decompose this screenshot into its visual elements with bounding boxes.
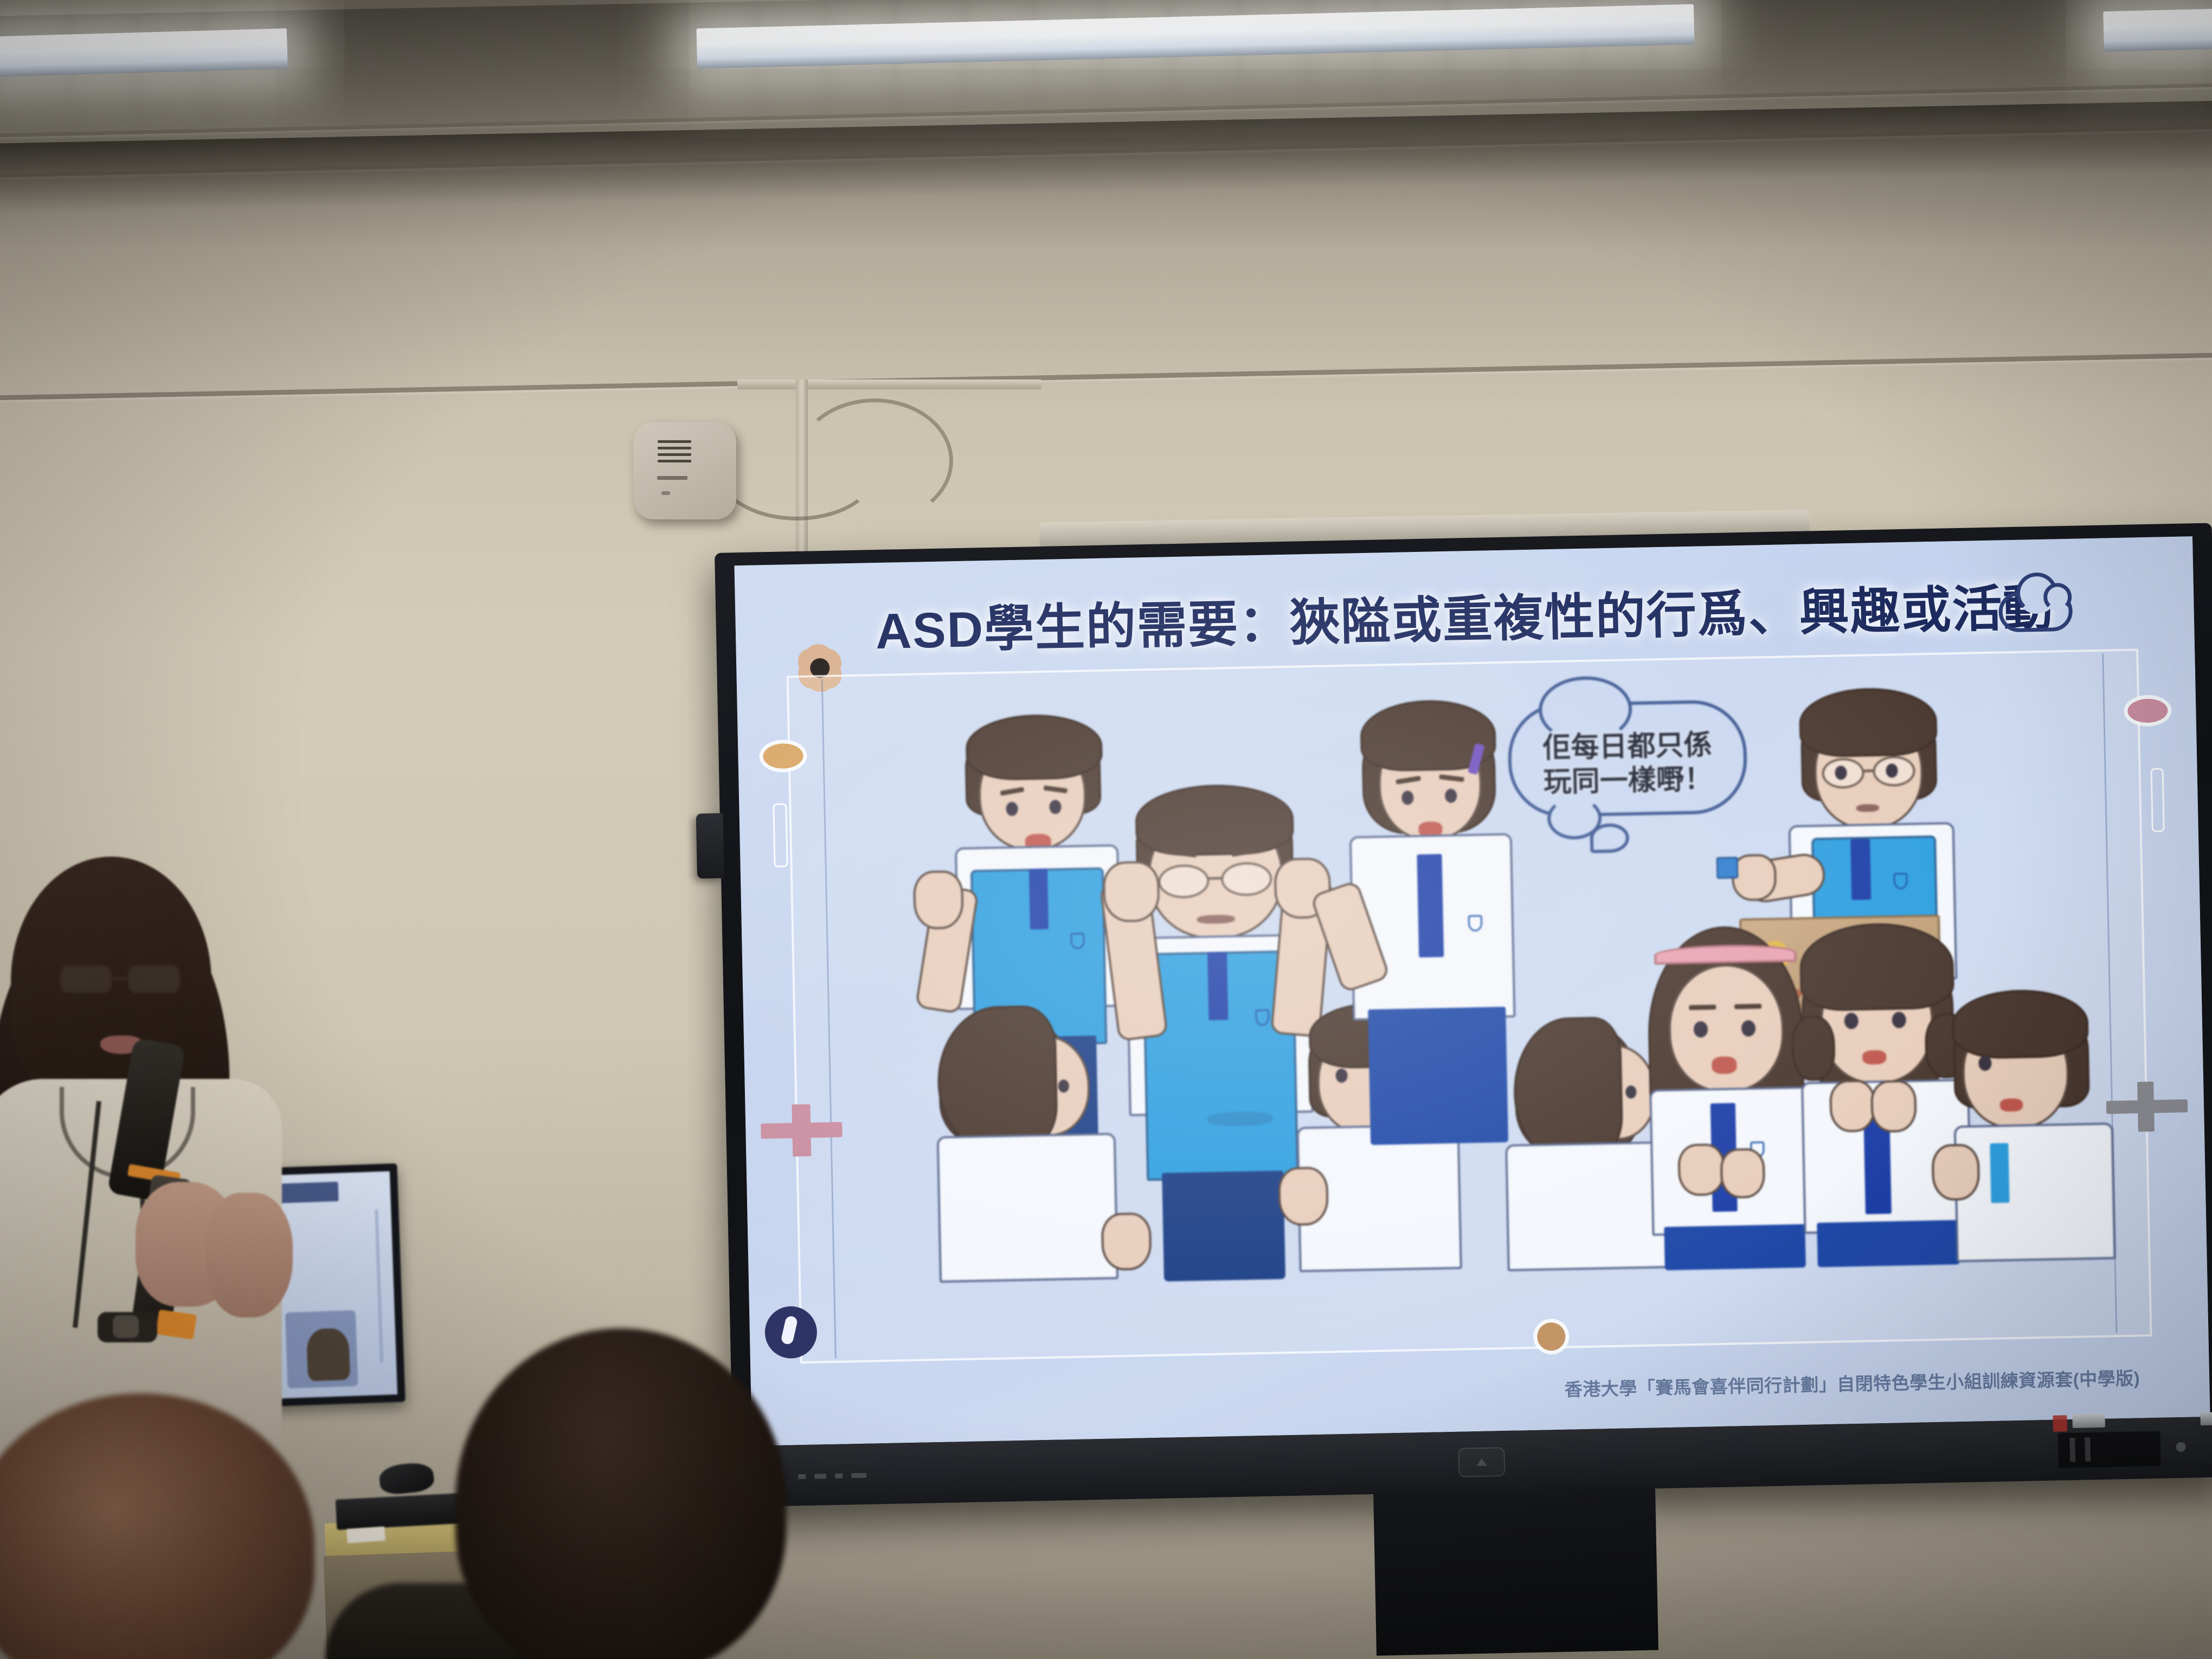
cloud-icon — [1998, 591, 2073, 633]
status-indicator — [2053, 1415, 2067, 1432]
student-hair-front — [965, 713, 1103, 781]
power-logo-icon[interactable] — [1458, 1447, 1505, 1477]
port-icon[interactable] — [851, 1473, 866, 1478]
pink-dot-icon — [2127, 698, 2168, 723]
paper-sheet — [346, 1527, 385, 1544]
student-hair-back — [1513, 1017, 1624, 1164]
student-hand-covering-ear — [1103, 861, 1160, 923]
panel-control-module[interactable] — [2057, 1431, 2161, 1469]
illustration-right: 佢每日都只係 玩同一樣嘢！ — [1496, 674, 2114, 1271]
vent-slots — [658, 440, 691, 443]
headband-icon — [1654, 943, 1797, 964]
cable-conduit — [737, 380, 1041, 389]
student-hand — [1677, 1143, 1725, 1197]
student-shirt — [1954, 1122, 2116, 1262]
pink-plus-vertical — [792, 1104, 811, 1157]
student-brow — [1689, 1005, 1716, 1010]
cable-loop — [796, 398, 953, 523]
student-tie — [1990, 1143, 2009, 1203]
interactive-flat-panel[interactable]: ASD學生的需要：狹隘或重複性的行爲、興趣或活動 — [715, 523, 2212, 1507]
speech-bubble: 佢每日都只係 玩同一樣嘢！ — [1507, 699, 1748, 818]
puzzle-piece-icon — [1716, 857, 1739, 879]
student-hair-back — [936, 1005, 1058, 1154]
white-bar-icon — [773, 803, 788, 867]
classroom-scene: ASD學生的需要：狹隘或重複性的行爲、興趣或活動 — [0, 0, 2212, 1659]
student-tie — [1850, 839, 1871, 900]
student-skirt — [1817, 1220, 1960, 1267]
ceiling-light — [2103, 8, 2212, 52]
student-hair-front — [1951, 988, 2089, 1059]
student-hand — [1278, 1167, 1329, 1226]
student-mouth — [2000, 1098, 2023, 1112]
device-indicator — [661, 491, 670, 495]
student-hand — [1732, 854, 1777, 902]
wifi-access-point-icon — [633, 422, 736, 519]
glasses-bridge — [1863, 769, 1875, 772]
student-hand — [1720, 1148, 1765, 1199]
student-hand — [1101, 1212, 1152, 1271]
panel-screen[interactable]: ASD學生的需要：狹隘或重複性的行爲、興趣或活動 — [734, 536, 2210, 1446]
power-button[interactable] — [2176, 1442, 2185, 1452]
student-hand — [913, 870, 964, 930]
glasses-bridge — [1208, 877, 1223, 880]
control-slot[interactable] — [2085, 1437, 2091, 1461]
port-icon[interactable] — [835, 1474, 843, 1478]
student-shirt — [937, 1133, 1118, 1283]
gray-plus-icon — [2106, 1099, 2188, 1114]
illustration-left — [900, 698, 1470, 1278]
gray-plus-vertical — [2137, 1082, 2155, 1132]
wristwatch-face — [113, 1315, 139, 1338]
lens-right — [128, 965, 180, 993]
device-label — [657, 476, 687, 480]
student-hair-front — [1135, 783, 1295, 857]
student-tie — [1029, 869, 1049, 930]
control-slot[interactable] — [2069, 1438, 2075, 1462]
student-hand — [1870, 1080, 1917, 1133]
port-icon[interactable] — [814, 1474, 826, 1478]
student-skirt — [1368, 1007, 1508, 1145]
lens-left — [60, 965, 112, 993]
glasses-bridge — [112, 977, 128, 980]
panel-side-handle[interactable] — [696, 813, 724, 879]
student-brow — [1886, 996, 1913, 1002]
panel-stand — [1373, 1488, 1658, 1656]
glasses-icon — [60, 965, 180, 994]
port-icon[interactable] — [798, 1474, 806, 1479]
student-mouth — [1197, 915, 1235, 924]
student-pigtail — [1791, 1015, 1836, 1082]
laptop-poster-line — [375, 1210, 383, 1362]
pink-plus-icon — [761, 1122, 843, 1139]
speech-bubble-tail — [1590, 823, 1629, 853]
student-brow — [1840, 998, 1867, 1003]
panel-ports[interactable] — [798, 1473, 866, 1480]
student-skirt — [1664, 1224, 1806, 1270]
student-hair-front — [1798, 687, 1937, 758]
student-pants — [1162, 1171, 1285, 1281]
page-title: ASD學生的需要：狹隘或重複性的行爲、興趣或活動 — [735, 564, 2195, 666]
slide-footer: 香港大學「賽馬會喜伴同行計劃」自閉特色學生小組訓練資源套(中學版) — [1564, 1364, 2140, 1401]
student-mouth — [1712, 1056, 1737, 1074]
bezel-clip — [2200, 1412, 2212, 1426]
student-shirt — [1505, 1141, 1670, 1271]
student-tie — [1417, 854, 1444, 957]
student-brow — [1734, 1004, 1761, 1009]
navy-circle-mark — [780, 1315, 798, 1346]
speech-bubble-text: 佢每日都只係 玩同一樣嘢！ — [1511, 728, 1744, 801]
bezel-clip — [2072, 1413, 2105, 1428]
ceiling-light — [0, 28, 288, 77]
presentation-slide: ASD學生的需要：狹隘或重複性的行爲、興趣或活動 — [734, 536, 2210, 1446]
student-mouth — [1862, 1050, 1887, 1065]
student-hand — [1829, 1079, 1876, 1133]
student-mouth — [1856, 804, 1879, 812]
white-bar-icon — [2150, 768, 2164, 832]
audience-head — [455, 1328, 786, 1659]
student-hand — [1931, 1143, 1980, 1201]
microphone-tip — [156, 1309, 197, 1339]
frame-inner-line — [821, 679, 837, 1359]
presenter-hand — [206, 1193, 293, 1317]
student-tie — [1207, 951, 1229, 1020]
